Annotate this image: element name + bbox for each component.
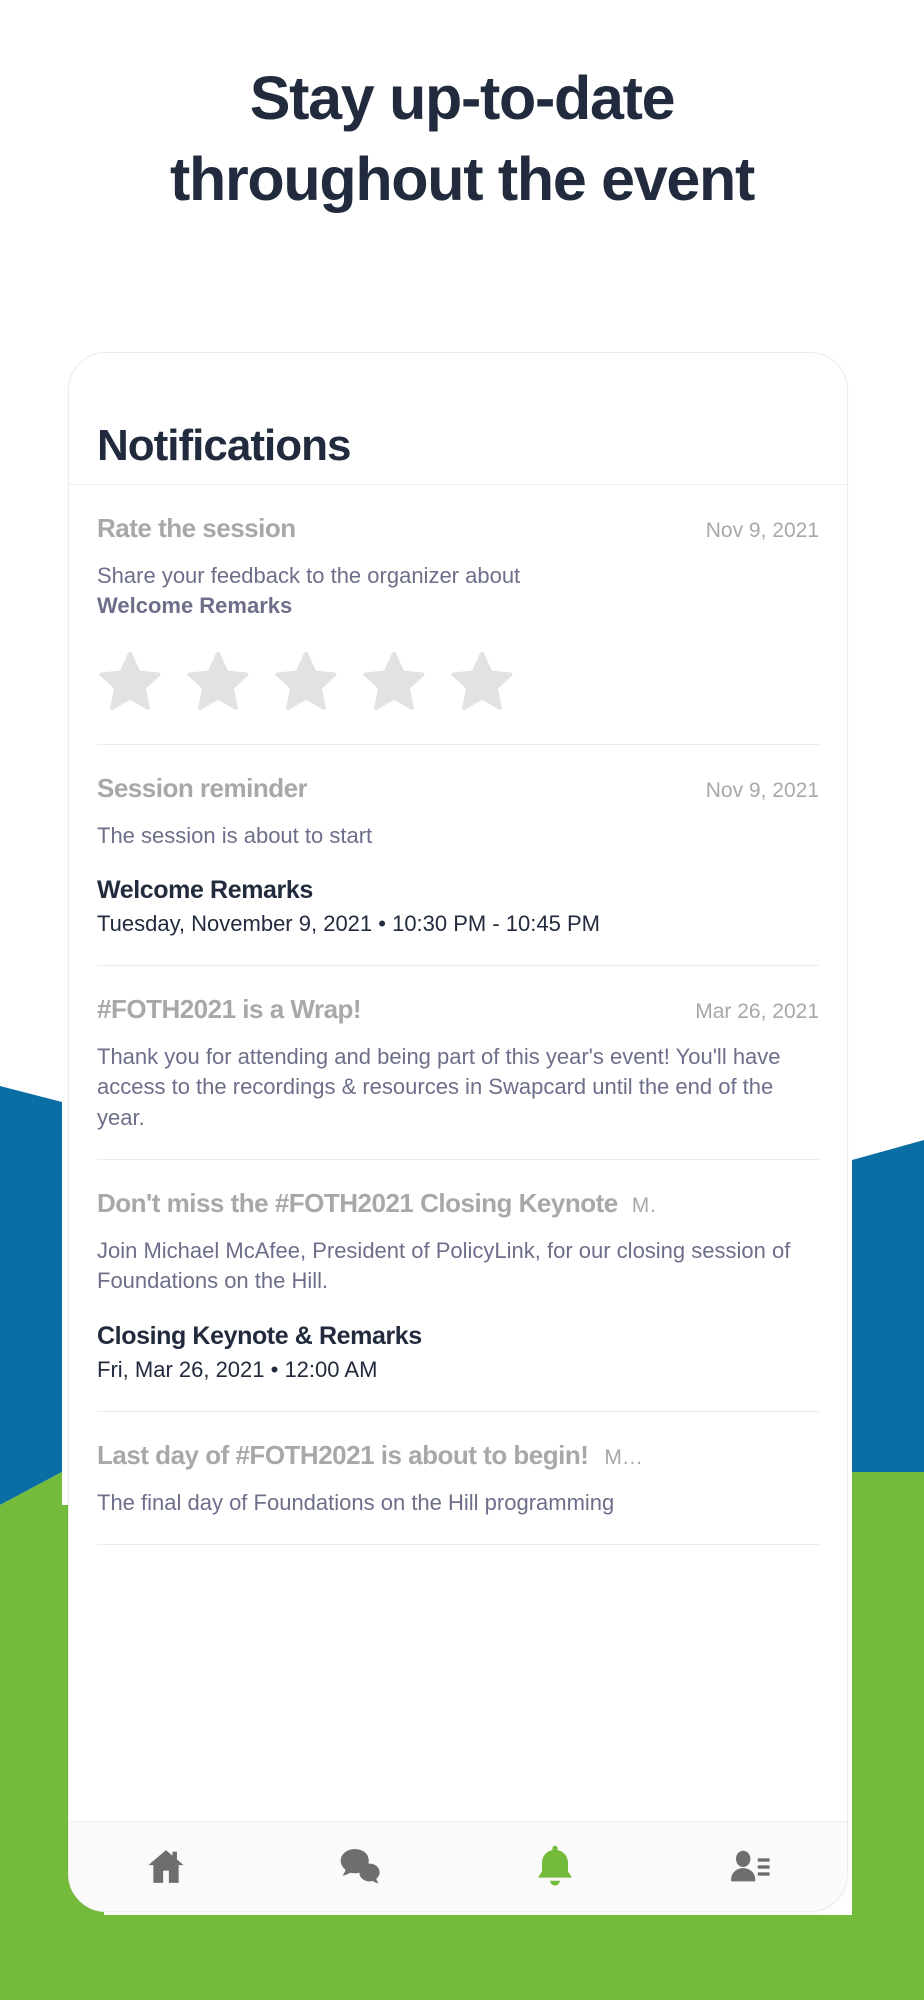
tab-home[interactable] [69,1822,264,1911]
notification-title: Rate the session [97,513,296,544]
session-time: Fri, Mar 26, 2021 • 12:00 AM [97,1356,819,1385]
bell-icon[interactable] [533,1843,577,1891]
notification-title: Don't miss the #FOTH2021 Closing Keynote [97,1188,618,1219]
star-icon[interactable] [181,646,255,718]
notification-title: Session reminder [97,773,307,804]
bottom-green-band [0,1915,924,2000]
home-icon[interactable] [143,1844,189,1890]
headline-line-1: Stay up-to-date [0,58,924,139]
star-icon[interactable] [269,646,343,718]
list-item[interactable]: Rate the session Nov 9, 2021 Share your … [97,485,819,745]
notification-body: The final day of Foundations on the Hill… [97,1488,819,1518]
list-item[interactable]: #FOTH2021 is a Wrap! Mar 26, 2021 Thank … [97,966,819,1160]
notification-body-subject: Welcome Remarks [97,591,819,621]
contact-person-icon[interactable] [726,1844,774,1890]
list-item[interactable]: Last day of #FOTH2021 is about to begin!… [97,1412,819,1545]
screen-title: Notifications [97,424,350,468]
star-icon[interactable] [93,646,167,718]
notification-date: Nov 9, 2021 [706,779,819,803]
poster-canvas: Stay up-to-date throughout the event Not… [0,0,924,2000]
notification-body: The session is about to start [97,821,819,851]
notification-body: Thank you for attending and being part o… [97,1042,819,1133]
bottom-navigation [69,1821,847,1911]
tab-chat[interactable] [264,1822,459,1911]
notification-body: Join Michael McAfee, President of Policy… [97,1236,819,1297]
phone-mockup: Notifications Rate the session Nov 9, 20… [68,352,848,1912]
headline-line-2: throughout the event [0,139,924,220]
session-name: Closing Keynote & Remarks [97,1321,819,1352]
tab-contacts[interactable] [653,1822,848,1911]
right-blue-shape [852,1140,924,1472]
list-fade-overlay [69,1777,847,1823]
star-icon[interactable] [445,646,519,718]
notification-body: Share your feedback to the organizer abo… [97,561,819,622]
screen-header: Notifications [69,353,847,485]
notification-date: Mar 26, 2021 [604,1446,648,1470]
notification-header: Session reminder Nov 9, 2021 [97,773,819,804]
notification-title: Last day of #FOTH2021 is about to begin! [97,1440,588,1471]
notification-header: #FOTH2021 is a Wrap! Mar 26, 2021 [97,994,819,1025]
star-icon[interactable] [357,646,431,718]
notifications-list[interactable]: Rate the session Nov 9, 2021 Share your … [69,485,847,1823]
list-item[interactable]: Don't miss the #FOTH2021 Closing Keynote… [97,1160,819,1412]
notification-date: Mar 26, 2021 [695,1000,819,1024]
notification-header: Last day of #FOTH2021 is about to begin!… [97,1440,819,1471]
notification-date: Nov 9, 2021 [706,519,819,543]
session-summary[interactable]: Welcome Remarks Tuesday, November 9, 202… [97,875,819,939]
notification-body-text: Share your feedback to the organizer abo… [97,563,520,588]
page-title: Stay up-to-date throughout the event [0,58,924,220]
session-time: Tuesday, November 9, 2021 • 10:30 PM - 1… [97,910,819,939]
list-item[interactable]: Session reminder Nov 9, 2021 The session… [97,745,819,966]
notification-title: #FOTH2021 is a Wrap! [97,994,361,1025]
notification-header: Don't miss the #FOTH2021 Closing Keynote… [97,1188,819,1219]
tab-notifications[interactable] [458,1822,653,1911]
notification-date: Mar 26, 2021 [632,1194,658,1218]
session-name: Welcome Remarks [97,875,819,906]
session-summary[interactable]: Closing Keynote & Remarks Fri, Mar 26, 2… [97,1321,819,1385]
left-blue-shape [0,1086,62,1505]
chat-bubbles-icon[interactable] [337,1844,385,1890]
notification-header: Rate the session Nov 9, 2021 [97,513,819,544]
rating-stars[interactable] [93,646,819,718]
